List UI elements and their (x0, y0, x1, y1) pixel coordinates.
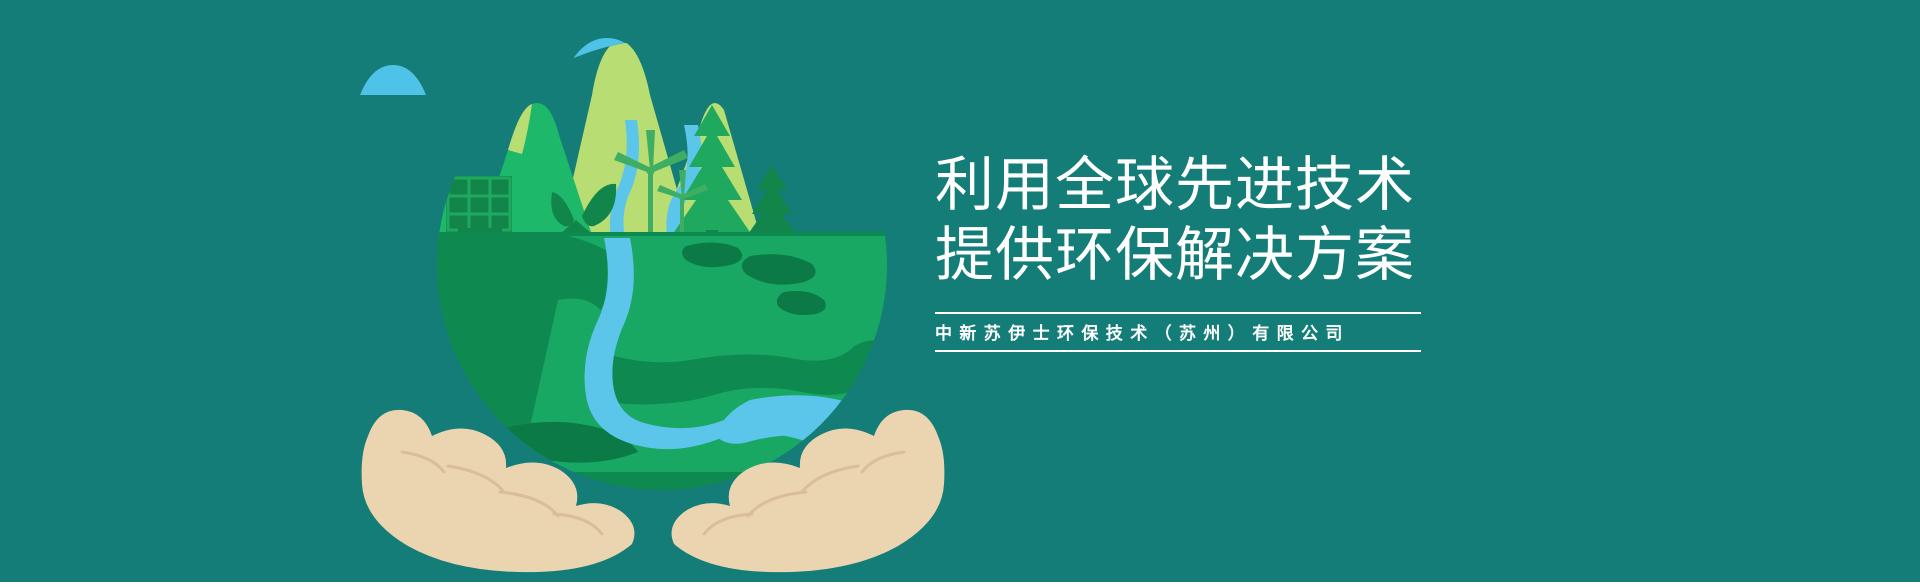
cloud-small-icon (360, 65, 426, 95)
illustration-hands-holding-earth (330, 0, 950, 582)
company-name-rule-wrapper: 中新苏伊士环保技术（苏州）有限公司 (935, 312, 1421, 352)
earth-illustration-svg (330, 0, 950, 582)
headline-line-2: 提供环保解决方案 (935, 220, 1455, 290)
hero-banner: 利用全球先进技术 提供环保解决方案 中新苏伊士环保技术（苏州）有限公司 (0, 0, 1920, 582)
hero-text-block: 利用全球先进技术 提供环保解决方案 中新苏伊士环保技术（苏州）有限公司 (935, 150, 1455, 352)
headline-line-1: 利用全球先进技术 (935, 150, 1455, 220)
company-name: 中新苏伊士环保技术（苏州）有限公司 (935, 319, 1421, 344)
